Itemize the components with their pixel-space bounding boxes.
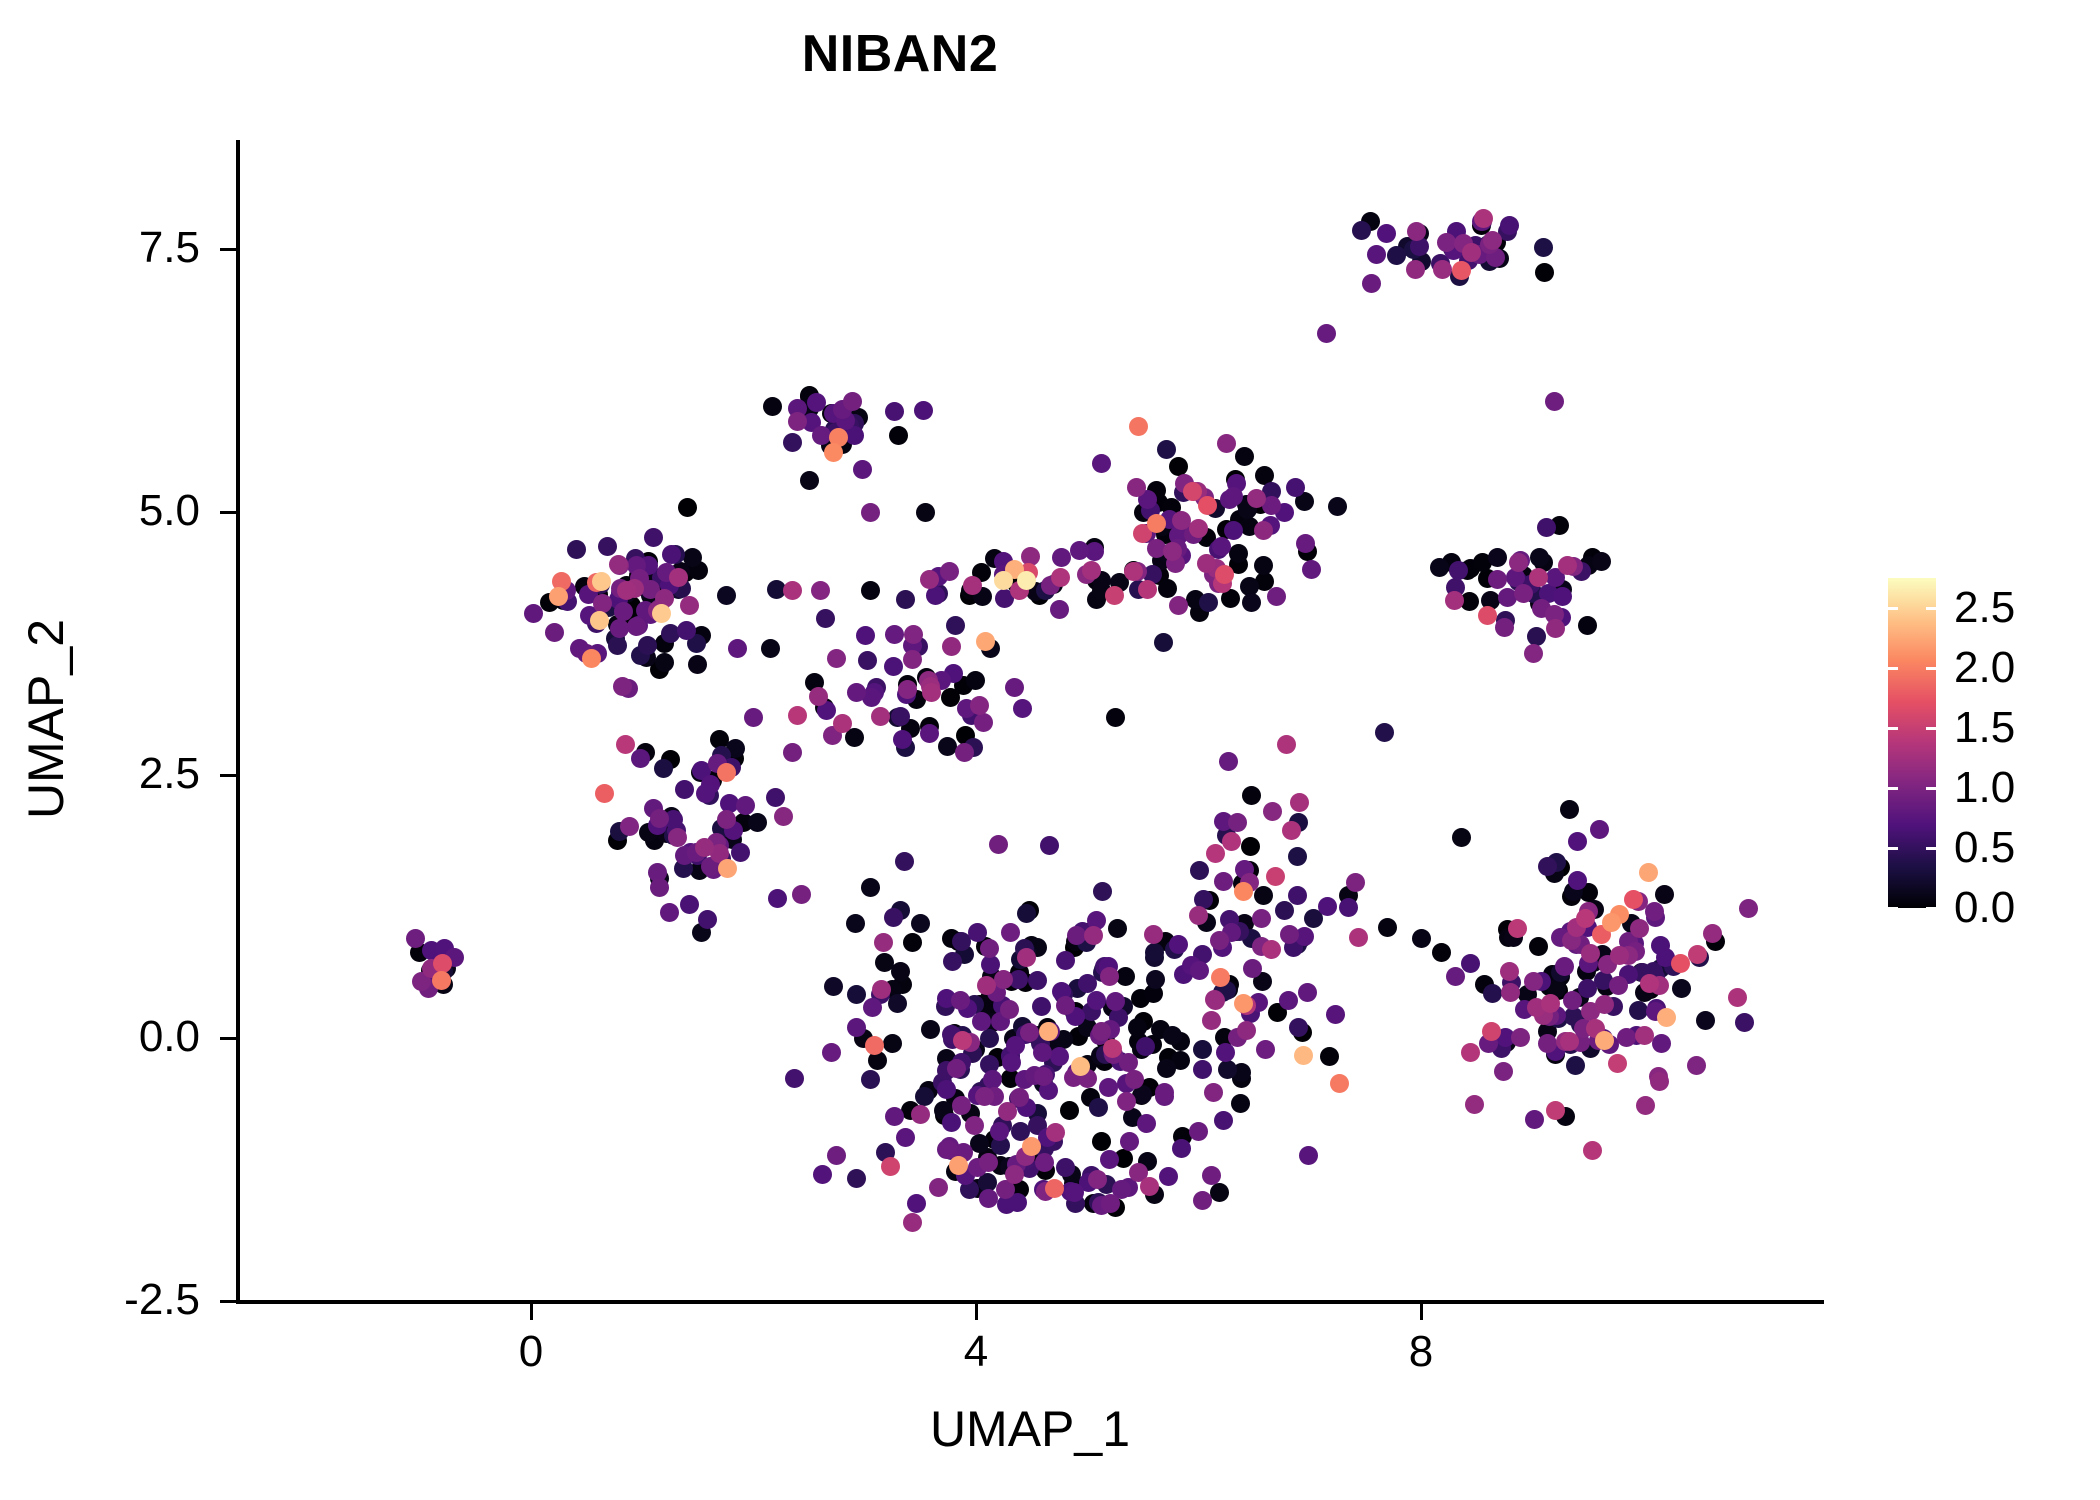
scatter-point	[1154, 633, 1173, 652]
scatter-point	[1579, 954, 1598, 973]
scatter-point	[1044, 1053, 1063, 1072]
scatter-point	[981, 639, 1000, 658]
scatter-point	[785, 1069, 804, 1088]
scatter-point	[809, 687, 828, 706]
scatter-point	[1056, 1158, 1075, 1177]
scatter-point	[826, 423, 845, 442]
chart-root: NIBAN2 -2.50.02.55.07.5 048 UMAP_1 UMAP_…	[0, 0, 2100, 1500]
scatter-point	[1570, 988, 1589, 1007]
scatter-point	[875, 953, 894, 972]
scatter-point	[952, 932, 971, 951]
scatter-point	[800, 386, 819, 405]
scatter-point	[1486, 248, 1505, 267]
scatter-point	[1538, 857, 1557, 876]
scatter-point	[717, 586, 736, 605]
scatter-point	[1112, 1180, 1131, 1199]
scatter-point	[1217, 826, 1236, 845]
scatter-point	[1119, 1053, 1138, 1072]
scatter-point	[978, 1173, 997, 1192]
scatter-point	[937, 1080, 956, 1099]
scatter-point	[1243, 959, 1262, 978]
scatter-point	[822, 404, 841, 423]
scatter-point	[1241, 837, 1260, 856]
scatter-point	[1532, 972, 1551, 991]
scatter-point	[1022, 936, 1041, 955]
scatter-point	[1013, 1017, 1032, 1036]
scatter-point	[1626, 942, 1645, 961]
scatter-point	[1254, 521, 1273, 540]
scatter-point	[1703, 924, 1722, 943]
scatter-point	[1226, 470, 1245, 489]
scatter-point	[1166, 554, 1185, 573]
scatter-point	[946, 616, 965, 635]
scatter-point	[1092, 571, 1111, 590]
scatter-point	[895, 852, 914, 871]
page-title: NIBAN2	[0, 24, 1800, 84]
scatter-point	[1739, 899, 1758, 918]
scatter-point	[1509, 572, 1528, 591]
scatter-point	[1171, 1051, 1190, 1070]
scatter-point	[1147, 539, 1166, 558]
scatter-point	[1292, 929, 1311, 948]
scatter-point	[645, 574, 664, 593]
scatter-point	[868, 1051, 887, 1070]
scatter-point	[723, 830, 742, 849]
scatter-point	[1108, 919, 1127, 938]
scatter-point	[1034, 1180, 1053, 1199]
scatter-point	[1490, 249, 1509, 268]
scatter-point	[1206, 499, 1225, 518]
scatter-point	[610, 822, 629, 841]
scatter-point	[966, 671, 985, 690]
scatter-point	[1099, 957, 1118, 976]
scatter-point	[692, 626, 711, 645]
scatter-point	[1128, 562, 1147, 581]
scatter-point	[768, 889, 787, 908]
scatter-point	[1377, 224, 1396, 243]
scatter-point	[1197, 528, 1216, 547]
scatter-point	[1078, 1055, 1097, 1074]
scatter-point	[1067, 926, 1086, 945]
scatter-point	[1212, 537, 1231, 556]
scatter-point	[1545, 392, 1564, 411]
scatter-point	[1504, 928, 1523, 947]
scatter-point	[1163, 542, 1182, 561]
scatter-point	[1079, 1173, 1098, 1192]
scatter-point	[1190, 961, 1209, 980]
scatter-point	[1459, 251, 1478, 270]
scatter-point	[1539, 584, 1558, 603]
scatter-point	[788, 412, 807, 431]
scatter-point	[1206, 991, 1225, 1010]
scatter-point	[1138, 490, 1157, 509]
scatter-point	[979, 1076, 998, 1095]
scatter-point	[1296, 534, 1315, 553]
scatter-point	[1318, 897, 1337, 916]
scatter-point	[1387, 246, 1406, 265]
scatter-point	[1136, 1037, 1155, 1056]
scatter-point	[1088, 1170, 1107, 1189]
scatter-point	[1254, 556, 1273, 575]
scatter-point	[1103, 1043, 1122, 1062]
scatter-point	[683, 548, 702, 567]
scatter-point	[1193, 1191, 1212, 1210]
scatter-point	[1021, 547, 1040, 566]
scatter-point	[1412, 929, 1431, 948]
scatter-point	[1502, 973, 1521, 992]
scatter-point	[616, 735, 635, 754]
scatter-point	[861, 878, 880, 897]
scatter-point	[1150, 566, 1169, 585]
scatter-point	[1205, 990, 1224, 1009]
scatter-point	[720, 794, 739, 813]
scatter-point	[1117, 1092, 1136, 1111]
scatter-point	[1101, 1194, 1120, 1213]
scatter-point	[1066, 932, 1085, 951]
scatter-point	[1000, 1000, 1019, 1019]
scatter-point	[552, 572, 571, 591]
scatter-point	[1585, 900, 1604, 919]
scatter-point	[854, 1029, 873, 1048]
scatter-point	[1656, 948, 1675, 967]
scatter-point	[1034, 1067, 1053, 1086]
scatter-point	[1214, 1111, 1233, 1130]
scatter-point	[1293, 1023, 1312, 1042]
scatter-point	[903, 650, 922, 669]
scatter-point	[898, 675, 917, 694]
scatter-point	[885, 402, 904, 421]
scatter-point	[1255, 572, 1274, 591]
scatter-point	[1114, 997, 1133, 1016]
scatter-point	[1093, 963, 1112, 982]
scatter-point	[800, 399, 819, 418]
scatter-point	[1262, 940, 1281, 959]
scatter-point	[644, 799, 663, 818]
scatter-point	[1067, 1063, 1086, 1082]
scatter-point	[951, 991, 970, 1010]
scatter-point	[1220, 910, 1239, 929]
scatter-point	[1480, 252, 1499, 271]
scatter-point	[1016, 1147, 1035, 1166]
scatter-point	[1028, 1104, 1047, 1123]
scatter-point	[1159, 544, 1178, 563]
scatter-point	[1009, 970, 1028, 989]
scatter-point	[1007, 1155, 1026, 1174]
scatter-point	[970, 995, 989, 1014]
scatter-point	[920, 570, 939, 589]
scatter-point	[642, 566, 661, 585]
scatter-point	[933, 1073, 952, 1092]
scatter-point	[1237, 996, 1256, 1015]
scatter-point	[1064, 1174, 1083, 1193]
scatter-point	[1217, 520, 1236, 539]
scatter-point	[1432, 943, 1451, 962]
scatter-point	[978, 1148, 997, 1167]
colorbar-tick-mark	[1926, 847, 1936, 850]
scatter-point	[1263, 802, 1282, 821]
scatter-point	[1189, 1122, 1208, 1141]
scatter-point	[1044, 1132, 1063, 1151]
scatter-point	[1099, 1078, 1118, 1097]
scatter-point	[943, 952, 962, 971]
scatter-point	[1116, 967, 1135, 986]
scatter-point	[637, 579, 656, 598]
scatter-point	[680, 596, 699, 615]
scatter-point	[1445, 591, 1464, 610]
scatter-point	[958, 999, 977, 1018]
scatter-point	[1134, 1012, 1153, 1031]
scatter-point	[942, 1025, 961, 1044]
scatter-point	[1005, 1165, 1024, 1184]
scatter-point	[437, 959, 456, 978]
scatter-point	[1041, 1022, 1060, 1041]
scatter-point	[812, 426, 831, 445]
scatter-point	[606, 629, 625, 648]
scatter-point	[1497, 1033, 1516, 1052]
scatter-point	[867, 678, 886, 697]
scatter-point	[1165, 940, 1184, 959]
colorbar-tick-mark	[1888, 727, 1898, 730]
scatter-point	[692, 761, 711, 780]
scatter-point	[1144, 984, 1163, 1003]
scatter-point	[1143, 1035, 1162, 1054]
scatter-point	[1051, 568, 1070, 587]
scatter-point	[1143, 565, 1162, 584]
scatter-point	[1213, 574, 1232, 593]
scatter-point	[627, 617, 646, 636]
scatter-point	[1137, 524, 1156, 543]
scatter-point	[897, 685, 916, 704]
scatter-point	[1537, 518, 1556, 537]
scatter-point	[1282, 821, 1301, 840]
scatter-point	[669, 568, 688, 587]
scatter-point	[662, 571, 681, 590]
scatter-point	[1545, 605, 1564, 624]
scatter-point	[1521, 575, 1540, 594]
scatter-point	[650, 660, 669, 679]
scatter-point	[638, 602, 657, 621]
scatter-point	[1028, 1116, 1047, 1135]
scatter-point	[674, 859, 693, 878]
scatter-point	[961, 581, 980, 600]
scatter-point	[1571, 1033, 1590, 1052]
scatter-point	[952, 1053, 971, 1072]
scatter-point	[947, 1059, 966, 1078]
scatter-point	[911, 914, 930, 933]
scatter-point	[1133, 1085, 1152, 1104]
scatter-point	[1624, 890, 1643, 909]
scatter-point	[907, 690, 926, 709]
scatter-point	[1028, 971, 1047, 990]
scatter-point	[1132, 1086, 1151, 1105]
scatter-point	[1304, 909, 1323, 928]
scatter-point	[610, 619, 629, 638]
scatter-point	[1089, 1098, 1108, 1117]
scatter-point	[1651, 936, 1670, 955]
scatter-point	[1552, 608, 1571, 627]
scatter-point	[962, 706, 981, 725]
scatter-point	[980, 1055, 999, 1074]
scatter-point	[722, 758, 741, 777]
scatter-point	[1219, 980, 1238, 999]
scatter-point	[1540, 1007, 1559, 1026]
scatter-point	[633, 564, 652, 583]
scatter-point	[1487, 233, 1506, 252]
scatter-point	[824, 443, 843, 462]
scatter-point	[692, 923, 711, 942]
scatter-point	[1070, 541, 1089, 560]
scatter-point	[1209, 540, 1228, 559]
scatter-point	[1216, 1043, 1235, 1062]
scatter-point	[1500, 216, 1519, 235]
colorbar-tick-label: 0.0	[1954, 886, 2015, 930]
scatter-point	[1156, 932, 1175, 951]
scatter-point	[1204, 565, 1223, 584]
scatter-point	[937, 1140, 956, 1159]
scatter-point	[1234, 994, 1253, 1013]
scatter-point	[994, 565, 1013, 584]
scatter-point	[942, 637, 961, 656]
scatter-point	[1452, 261, 1471, 280]
scatter-point	[1583, 548, 1602, 567]
scatter-point	[816, 609, 835, 628]
scatter-point	[1431, 254, 1450, 273]
scatter-point	[1010, 963, 1029, 982]
scatter-point	[1706, 932, 1725, 951]
scatter-point	[1482, 1022, 1501, 1041]
scatter-point	[1004, 1029, 1023, 1048]
scatter-point	[629, 566, 648, 585]
scatter-point	[1651, 959, 1670, 978]
scatter-point	[1546, 1101, 1565, 1120]
scatter-point	[1462, 241, 1481, 260]
scatter-point	[1129, 1163, 1148, 1182]
scatter-point	[965, 1116, 984, 1135]
scatter-point	[712, 849, 731, 868]
scatter-point	[1202, 1011, 1221, 1030]
scatter-point	[889, 426, 908, 445]
scatter-point	[1646, 968, 1665, 987]
scatter-point	[1361, 212, 1380, 231]
scatter-point	[1298, 542, 1317, 561]
scatter-point	[1339, 886, 1358, 905]
scatter-point	[422, 973, 441, 992]
scatter-point	[1339, 898, 1358, 917]
scatter-point	[1089, 1193, 1108, 1212]
scatter-point	[983, 1013, 1002, 1032]
scatter-point	[1472, 212, 1491, 231]
scatter-point	[1404, 240, 1423, 259]
scatter-point	[1020, 901, 1039, 920]
scatter-point	[946, 1089, 965, 1108]
scatter-point	[968, 1086, 987, 1105]
scatter-point	[888, 708, 907, 727]
scatter-point	[1105, 586, 1124, 605]
scatter-point	[942, 1141, 961, 1160]
scatter-point	[998, 1102, 1017, 1121]
scatter-point	[1532, 599, 1551, 618]
scatter-point	[687, 634, 706, 653]
scatter-point	[840, 416, 859, 435]
scatter-point	[648, 863, 667, 882]
scatter-point	[1232, 1069, 1251, 1088]
scatter-point	[1254, 886, 1273, 905]
scatter-point	[1622, 914, 1641, 933]
scatter-point	[1017, 1098, 1036, 1117]
scatter-point	[1087, 991, 1106, 1010]
scatter-point	[1579, 902, 1598, 921]
scatter-point	[1430, 558, 1449, 577]
scatter-point	[1085, 538, 1104, 557]
y-tick-mark	[220, 248, 236, 251]
scatter-point	[1574, 1019, 1593, 1038]
scatter-point	[1054, 1030, 1073, 1049]
scatter-point	[980, 939, 999, 958]
scatter-point	[1564, 1007, 1583, 1026]
scatter-point	[1479, 235, 1498, 254]
scatter-point	[1262, 496, 1281, 515]
scatter-point	[636, 601, 655, 620]
scatter-point	[1639, 863, 1658, 882]
scatter-point	[1581, 1039, 1600, 1058]
scatter-point	[609, 590, 628, 609]
scatter-point	[1266, 867, 1285, 886]
scatter-point	[1286, 478, 1305, 497]
scatter-point	[1218, 1060, 1237, 1079]
scatter-point	[1050, 1047, 1069, 1066]
y-tick-mark	[220, 1037, 236, 1040]
scatter-point	[1017, 948, 1036, 967]
scatter-point	[1210, 931, 1229, 950]
scatter-point	[932, 671, 951, 690]
scatter-point	[1227, 922, 1246, 941]
scatter-point	[1564, 882, 1583, 901]
scatter-point	[1275, 901, 1294, 920]
scatter-point	[954, 1143, 973, 1162]
scatter-point	[1644, 962, 1663, 981]
colorbar-tick-mark	[1926, 907, 1936, 910]
scatter-point	[1249, 993, 1268, 1012]
scatter-point	[1610, 946, 1629, 965]
scatter-point	[1011, 1122, 1030, 1141]
scatter-point	[1200, 891, 1219, 910]
scatter-point	[1500, 962, 1519, 981]
scatter-point	[901, 719, 920, 738]
scatter-point	[1529, 937, 1548, 956]
scatter-point	[1566, 1056, 1585, 1075]
scatter-point	[1589, 1031, 1608, 1050]
scatter-point	[1041, 576, 1060, 595]
scatter-point	[1593, 945, 1612, 964]
scatter-point	[1352, 221, 1371, 240]
scatter-point	[617, 584, 636, 603]
scatter-point	[1040, 836, 1059, 855]
scatter-point	[1462, 243, 1481, 262]
scatter-point	[1646, 908, 1665, 927]
scatter-point	[545, 623, 564, 642]
scatter-point	[1036, 1161, 1055, 1180]
scatter-point	[956, 1166, 975, 1185]
scatter-point	[637, 648, 656, 667]
scatter-point	[874, 933, 893, 952]
scatter-point	[1545, 864, 1564, 883]
scatter-point	[1146, 970, 1165, 989]
scatter-point	[1635, 983, 1654, 1002]
scatter-point	[1111, 1052, 1130, 1071]
scatter-point	[1515, 1000, 1534, 1019]
scatter-point	[1230, 922, 1249, 941]
scatter-point	[1019, 563, 1038, 582]
